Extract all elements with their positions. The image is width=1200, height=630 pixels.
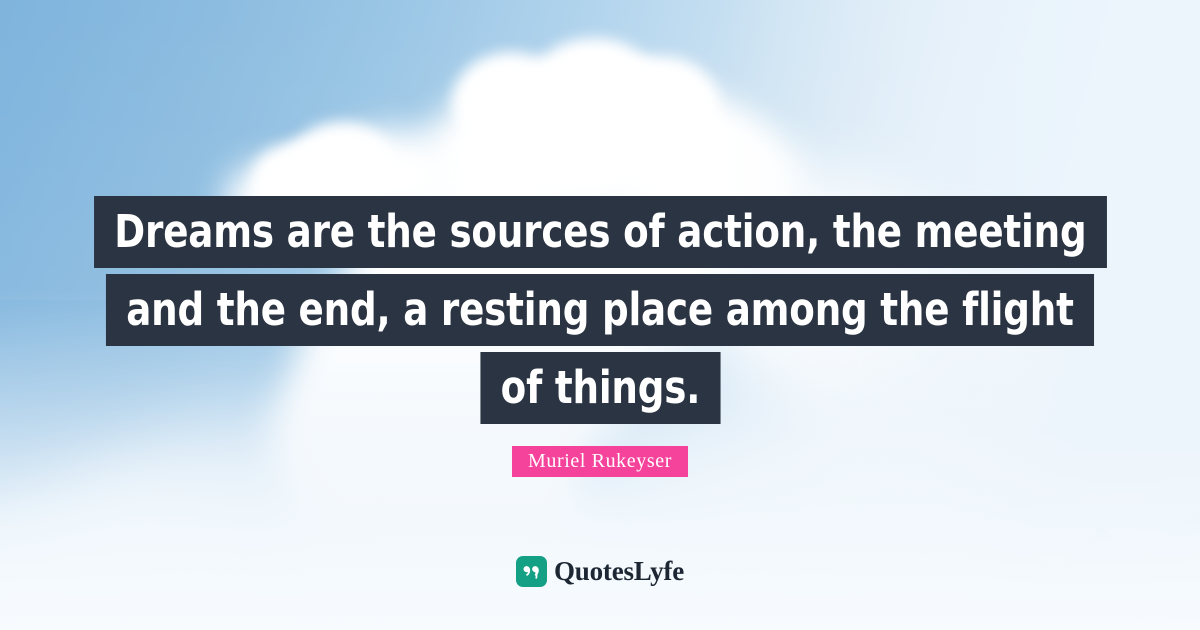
author-name: Muriel Rukeyser [512,446,688,477]
quote-card: Dreams are the sources of action, the me… [0,0,1200,630]
quote-line-2: and the end, a resting place among the f… [0,274,1200,346]
quote-marks-icon [516,556,547,587]
quote-line-3-text: of things. [480,352,720,424]
brand-name: QuotesLyfe [554,556,684,587]
quote-text: Dreams are the sources of action, the me… [0,196,1200,430]
quote-line-2-text: and the end, a resting place among the f… [106,274,1094,346]
quote-line-1: Dreams are the sources of action, the me… [0,196,1200,268]
quote-line-1-text: Dreams are the sources of action, the me… [94,196,1107,268]
author-attribution: Muriel Rukeyser [0,446,1200,477]
quote-line-3: of things. [0,352,1200,424]
brand-logo[interactable]: QuotesLyfe [0,556,1200,587]
